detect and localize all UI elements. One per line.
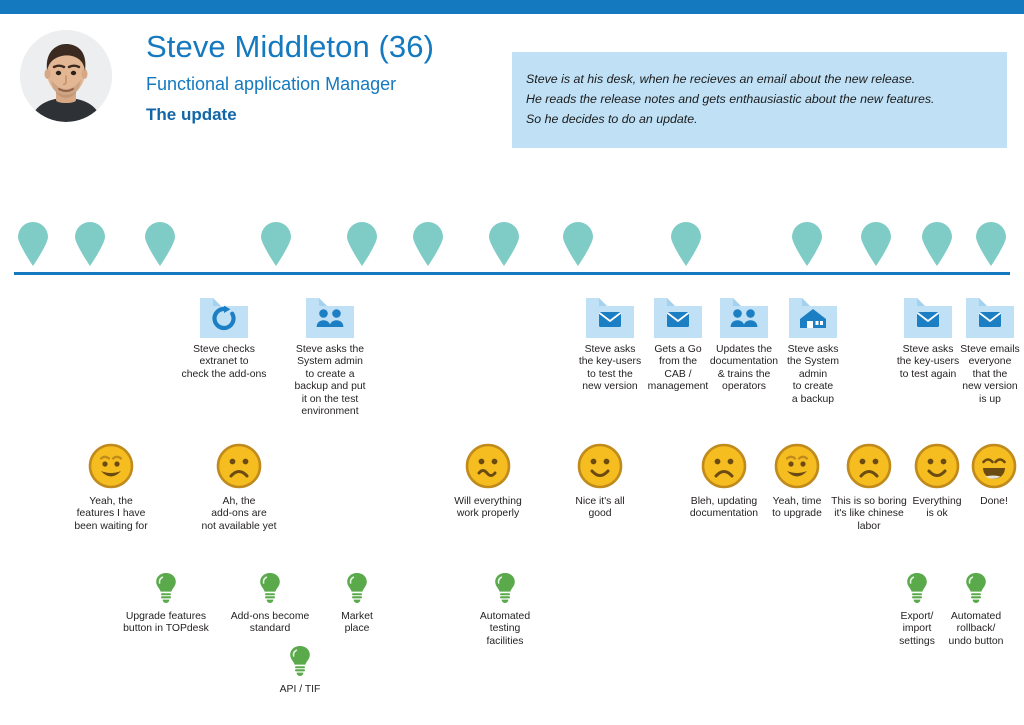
confused-wavy-mouth-face bbox=[465, 443, 511, 489]
timeline-axis bbox=[14, 272, 1010, 275]
touchpoint-card-shape bbox=[720, 298, 768, 338]
touchpoint-label: Steve asks the key-users to test the new… bbox=[572, 344, 648, 394]
emotion-label: Bleh, updating documentation bbox=[677, 496, 771, 521]
description-line-2: He reads the release notes and gets enth… bbox=[526, 89, 997, 109]
touchpoint-card-shape bbox=[200, 298, 248, 338]
stage-pin-marker[interactable] bbox=[974, 222, 1008, 266]
lightbulb-icon bbox=[345, 572, 369, 604]
emotion-label: Done! bbox=[967, 496, 1021, 508]
users-icon bbox=[306, 298, 354, 343]
stage-pin-marker[interactable] bbox=[143, 222, 177, 266]
user-photo-avatar bbox=[20, 30, 112, 122]
idea-label: Market place bbox=[328, 611, 386, 636]
grinning-raised-eyebrows-face bbox=[88, 443, 134, 494]
map-pin-icon bbox=[790, 222, 824, 266]
emotion-label: Will everything work properly bbox=[440, 496, 536, 521]
touchpoint-card-shape bbox=[966, 298, 1014, 338]
idea-label: Export/ import settings bbox=[889, 611, 945, 648]
envelope-icon bbox=[904, 298, 952, 343]
grinning-raised-eyebrows-face bbox=[88, 443, 134, 489]
envelope-icon bbox=[586, 298, 634, 343]
lightbulb-icon bbox=[258, 572, 282, 609]
touchpoint-label: Steve asks the System admin to create a … bbox=[287, 344, 373, 418]
idea-label: Add-ons become standard bbox=[218, 611, 322, 636]
persona-header: Steve Middleton (36) Functional applicat… bbox=[0, 22, 1024, 130]
stage-pin-marker[interactable] bbox=[259, 222, 293, 266]
envelope-icon bbox=[599, 312, 621, 327]
envelope-icon bbox=[654, 298, 702, 343]
slightly-smiling-face bbox=[914, 443, 960, 494]
touchpoint-label: Steve checks extranet to check the add-o… bbox=[172, 344, 276, 381]
touchpoint-label: Steve asks the System admin to create a … bbox=[777, 344, 849, 406]
lightbulb-icon bbox=[258, 572, 282, 604]
map-pin-icon bbox=[487, 222, 521, 266]
lightbulb-icon bbox=[964, 572, 988, 604]
stage-pin-marker[interactable] bbox=[669, 222, 703, 266]
map-pin-icon bbox=[16, 222, 50, 266]
touchpoint-card-shape bbox=[904, 298, 952, 338]
lightbulb-icon bbox=[288, 645, 312, 682]
frowning-face bbox=[846, 443, 892, 494]
stage-pin-marker[interactable] bbox=[859, 222, 893, 266]
lightbulb-icon bbox=[154, 572, 178, 609]
slightly-smiling-face bbox=[914, 443, 960, 489]
persona-role: Functional application Manager bbox=[146, 74, 396, 95]
idea-label: Automated testing facilities bbox=[470, 611, 540, 648]
map-pin-icon bbox=[920, 222, 954, 266]
slightly-smiling-face bbox=[577, 443, 623, 494]
emotion-label: Nice it's all good bbox=[563, 496, 637, 521]
frowning-face bbox=[701, 443, 747, 494]
confused-wavy-mouth-face bbox=[465, 443, 511, 494]
lightbulb-icon bbox=[905, 572, 929, 604]
users-icon bbox=[720, 298, 768, 343]
description-line-1: Steve is at his desk, when he recieves a… bbox=[526, 69, 997, 89]
touchpoint-card-shape bbox=[654, 298, 702, 338]
stage-pin-marker[interactable] bbox=[345, 222, 379, 266]
touchpoint-label: Steve emails everyone that the new versi… bbox=[955, 344, 1024, 406]
envelope-icon bbox=[917, 312, 939, 327]
lightbulb-icon bbox=[905, 572, 929, 609]
emotion-label: Everything is ok bbox=[904, 496, 970, 521]
map-pin-icon bbox=[411, 222, 445, 266]
envelope-icon bbox=[966, 298, 1014, 343]
map-pin-icon bbox=[259, 222, 293, 266]
stage-pin-marker[interactable] bbox=[920, 222, 954, 266]
map-pin-icon bbox=[859, 222, 893, 266]
stage-pin-marker[interactable] bbox=[561, 222, 595, 266]
map-pin-icon bbox=[143, 222, 177, 266]
map-pin-icon bbox=[345, 222, 379, 266]
laughing-face bbox=[971, 443, 1017, 489]
avatar bbox=[20, 30, 112, 122]
slightly-smiling-face bbox=[577, 443, 623, 489]
frowning-face bbox=[216, 443, 262, 494]
idea-label: API / TIF bbox=[269, 684, 331, 696]
frowning-face bbox=[216, 443, 262, 489]
map-pin-icon bbox=[669, 222, 703, 266]
lightbulb-icon bbox=[493, 572, 517, 604]
stage-pin-marker[interactable] bbox=[16, 222, 50, 266]
house-icon bbox=[789, 298, 837, 343]
map-pin-icon bbox=[561, 222, 595, 266]
scenario-description-box: Steve is at his desk, when he recieves a… bbox=[512, 52, 1007, 148]
grinning-raised-eyebrows-face bbox=[774, 443, 820, 489]
stage-pin-marker[interactable] bbox=[411, 222, 445, 266]
laughing-face bbox=[971, 443, 1017, 494]
idea-label: Upgrade features button in TOPdesk bbox=[110, 611, 222, 636]
envelope-icon bbox=[979, 312, 1001, 327]
refresh-icon bbox=[200, 298, 248, 343]
emotion-label: Yeah, the features I have been waiting f… bbox=[59, 496, 163, 533]
lightbulb-icon bbox=[964, 572, 988, 609]
journey-subtitle: The update bbox=[146, 105, 237, 125]
frowning-face bbox=[701, 443, 747, 489]
touchpoint-label: Updates the documentation & trains the o… bbox=[703, 344, 785, 394]
lightbulb-icon bbox=[154, 572, 178, 604]
touchpoint-card-shape bbox=[306, 298, 354, 338]
stage-pin-marker[interactable] bbox=[73, 222, 107, 266]
lightbulb-icon bbox=[345, 572, 369, 609]
envelope-icon bbox=[667, 312, 689, 327]
grinning-raised-eyebrows-face bbox=[774, 443, 820, 494]
stage-pin-marker[interactable] bbox=[790, 222, 824, 266]
idea-label: Automated rollback/ undo button bbox=[941, 611, 1011, 648]
lightbulb-icon bbox=[288, 645, 312, 677]
stage-pin-marker[interactable] bbox=[487, 222, 521, 266]
emotion-label: Ah, the add-ons are not available yet bbox=[189, 496, 289, 533]
touchpoint-card-shape bbox=[789, 298, 837, 338]
frowning-face bbox=[846, 443, 892, 489]
lightbulb-icon bbox=[493, 572, 517, 609]
map-pin-icon bbox=[974, 222, 1008, 266]
page-title: Steve Middleton (36) bbox=[146, 29, 434, 65]
top-accent-bar bbox=[0, 0, 1024, 14]
map-pin-icon bbox=[73, 222, 107, 266]
touchpoint-card-shape bbox=[586, 298, 634, 338]
description-line-3: So he decides to do an update. bbox=[526, 109, 997, 129]
